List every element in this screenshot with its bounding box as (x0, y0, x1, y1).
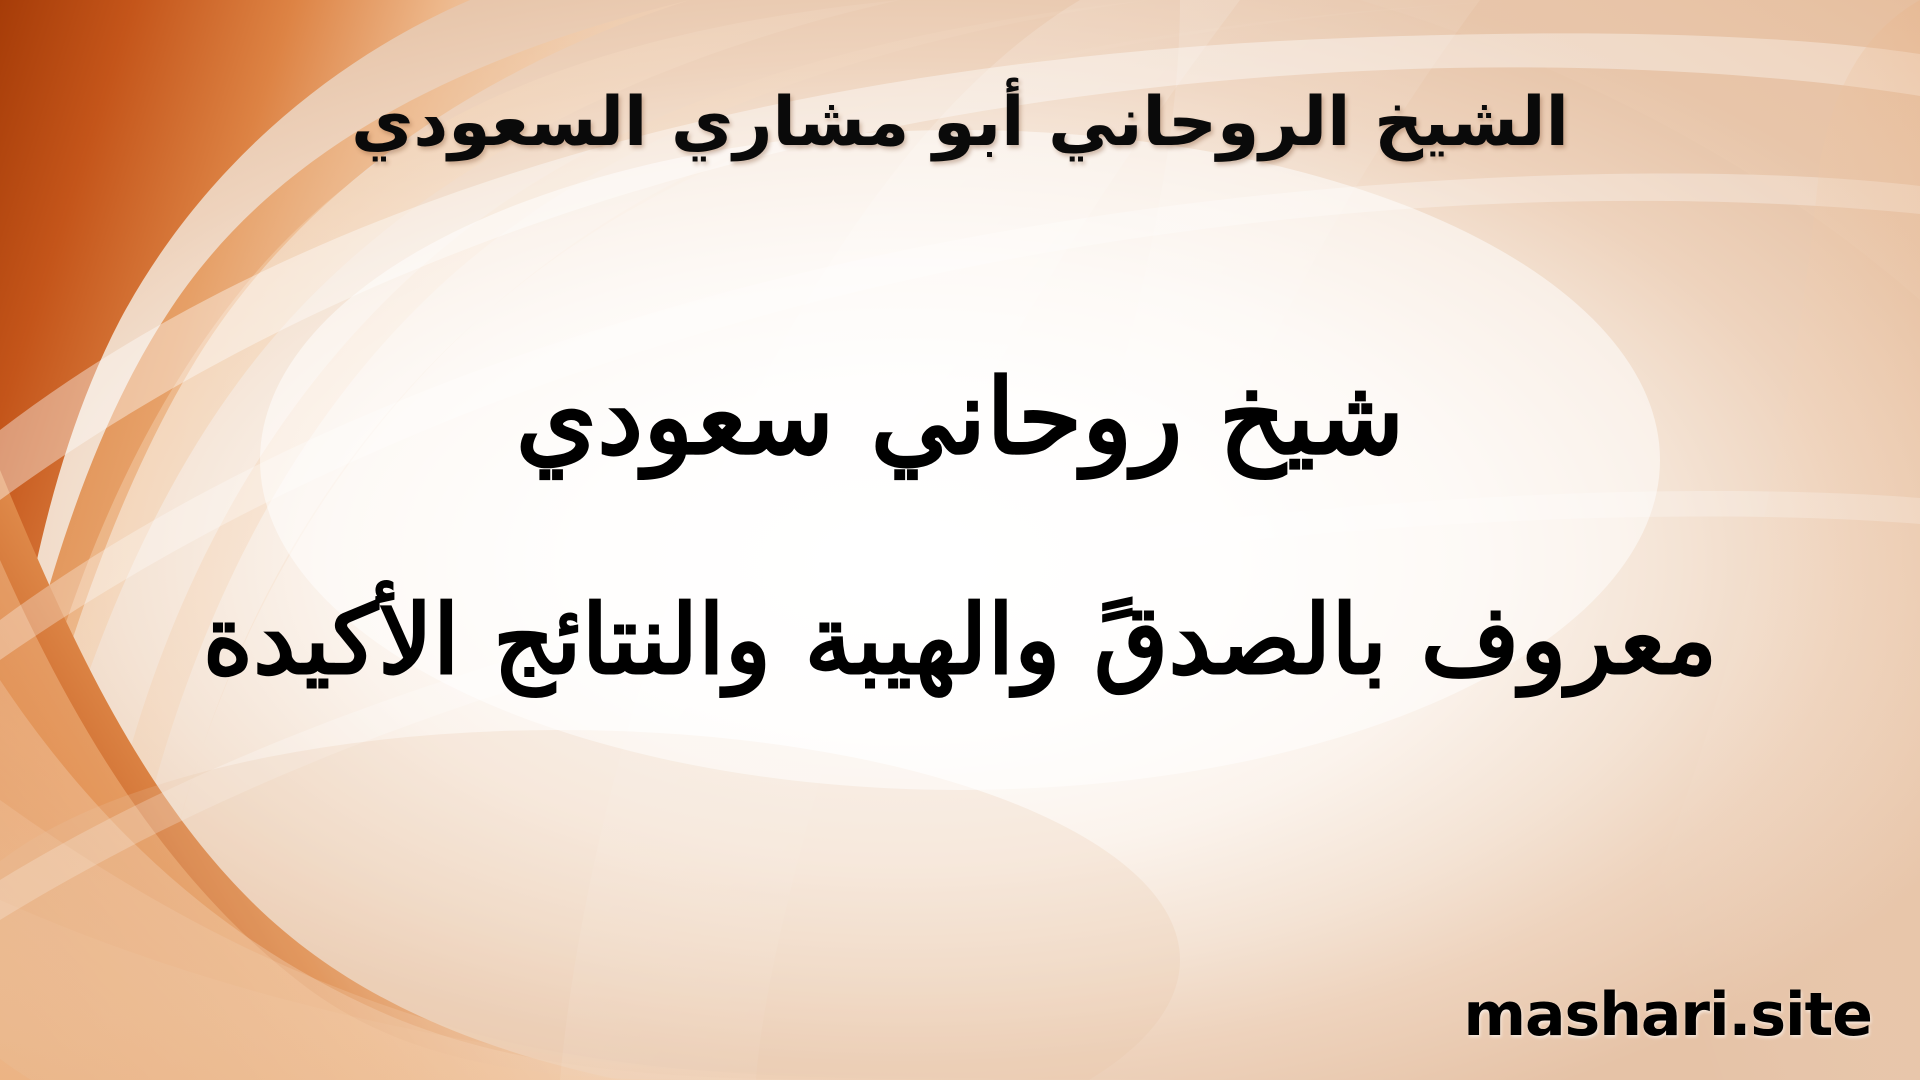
page-title: الشيخ الروحاني أبو مشاري السعودي (0, 84, 1920, 162)
subtitle-line-secondary: معروف بالصدقً والهيبة والنتائج الأكيدة (0, 580, 1920, 700)
subtitle-line-primary: شيخ روحاني سعودي (0, 355, 1920, 480)
poster-content: الشيخ الروحاني أبو مشاري السعودي شيخ روح… (0, 0, 1920, 1080)
site-watermark: mashari.site (1463, 980, 1872, 1050)
poster-canvas: الشيخ الروحاني أبو مشاري السعودي شيخ روح… (0, 0, 1920, 1080)
